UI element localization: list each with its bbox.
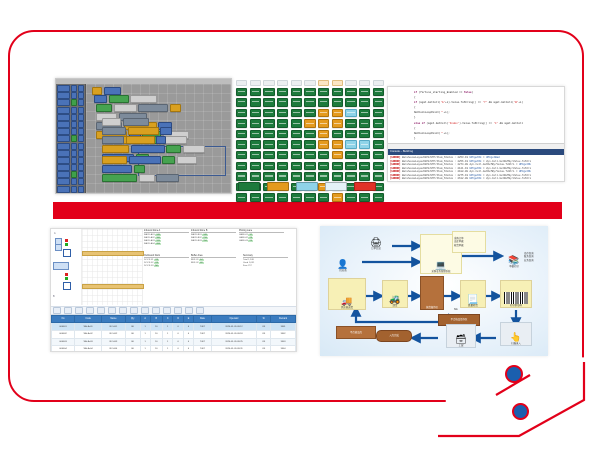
sheet-side-rail: A B xyxy=(51,229,82,305)
table-cell[interactable]: 000001 xyxy=(52,323,75,331)
rail-node-bottom[interactable] xyxy=(63,282,71,290)
matrix-cell[interactable] xyxy=(332,109,343,117)
matrix-cell[interactable] xyxy=(318,193,329,201)
matrix-cell[interactable] xyxy=(373,88,384,96)
matrix-cell[interactable] xyxy=(304,151,315,159)
table-cell[interactable]: 2024-01-05 09:12 xyxy=(211,323,257,331)
matrix-cell[interactable] xyxy=(263,193,274,201)
matrix-cell[interactable] xyxy=(345,151,356,159)
matrix-cell[interactable] xyxy=(277,193,288,201)
flow-node-transport-label: 供应商送货 xyxy=(341,306,353,310)
matrix-cell[interactable] xyxy=(236,98,247,106)
matrix-cell[interactable] xyxy=(277,140,288,148)
palette-item-math[interactable] xyxy=(57,100,84,105)
flow-node-scan: 👆 扫描录入 xyxy=(500,322,532,346)
block-row[interactable] xyxy=(102,136,205,144)
table-cell[interactable]: 000004 xyxy=(52,346,75,352)
matrix-cell[interactable] xyxy=(263,119,274,127)
block[interactable] xyxy=(126,136,155,144)
matrix-cell[interactable] xyxy=(332,88,343,96)
matrix-cell[interactable] xyxy=(263,98,274,106)
palette-chip xyxy=(78,121,84,128)
matrix-cell[interactable] xyxy=(277,162,288,170)
block[interactable] xyxy=(123,118,149,126)
table-cell[interactable]: 000003 xyxy=(52,338,75,346)
table-row[interactable]: 000003WH-A-03RC-0038011010074072024-01-0… xyxy=(52,338,296,346)
table-column-header[interactable]: Remark xyxy=(271,316,296,323)
matrix-cell[interactable] xyxy=(291,130,302,138)
block[interactable] xyxy=(129,156,161,164)
table-row[interactable]: 000002WH-A-02RC-0028011010074072024-01-0… xyxy=(52,330,296,338)
matrix-cell[interactable] xyxy=(332,193,343,201)
matrix-cell[interactable] xyxy=(304,162,315,170)
table-tool-button[interactable] xyxy=(97,307,105,314)
palette-item-screen1[interactable] xyxy=(57,144,84,149)
block[interactable] xyxy=(166,145,181,153)
block[interactable] xyxy=(177,156,197,164)
aisle-bar-bottom xyxy=(82,284,144,289)
block-row[interactable] xyxy=(102,118,187,126)
matrix-cell[interactable] xyxy=(359,172,370,180)
table-cell[interactable]: 3504 xyxy=(271,346,296,352)
matrix-cell[interactable] xyxy=(373,193,384,201)
matrix-cell[interactable] xyxy=(345,88,356,96)
matrix-cell[interactable] xyxy=(277,98,288,106)
table-cell[interactable]: 1 xyxy=(162,323,172,331)
palette-chip xyxy=(57,99,70,106)
table-cell[interactable]: 1 xyxy=(140,338,150,346)
table-tool-button[interactable] xyxy=(130,307,138,314)
matrix-cell[interactable] xyxy=(250,109,261,117)
matrix-cell[interactable] xyxy=(318,119,329,127)
table-tool-button[interactable] xyxy=(64,307,72,314)
table-column-header[interactable]: Name xyxy=(102,316,126,323)
blocks-editor-screenshot xyxy=(55,78,232,194)
table-column-header[interactable]: No xyxy=(52,316,75,323)
matrix-cell[interactable] xyxy=(263,172,274,180)
block[interactable] xyxy=(94,95,107,103)
matrix-cell[interactable] xyxy=(373,119,384,127)
table-column-header[interactable]: C xyxy=(162,316,172,323)
matrix-cell[interactable] xyxy=(373,98,384,106)
table-cell[interactable]: 1 xyxy=(140,323,150,331)
block[interactable] xyxy=(170,104,181,112)
table-cell[interactable]: 0 xyxy=(173,330,183,338)
matrix-cell[interactable] xyxy=(291,140,302,148)
matrix-cell[interactable] xyxy=(359,151,370,159)
table-cell[interactable]: 0 xyxy=(183,330,193,338)
table-row[interactable]: 000001WH-A-01RC-0018011010074072024-01-0… xyxy=(52,323,296,331)
sheet-group-header: Picking Lane xyxy=(239,230,284,233)
sheet-text-group: Buffer AreaBUF-01 64BUF-02 48 xyxy=(191,255,236,265)
table-cell[interactable]: WH-A-04 xyxy=(75,346,102,352)
matrix-cell[interactable] xyxy=(373,172,384,180)
table-column-header[interactable]: St xyxy=(257,316,271,323)
table-cell[interactable]: WH-A-02 xyxy=(75,330,102,338)
matrix-cell[interactable] xyxy=(263,109,274,117)
block-row[interactable] xyxy=(102,145,205,153)
palette-chip xyxy=(57,186,70,193)
matrix-cell[interactable] xyxy=(359,130,370,138)
palette-chip xyxy=(78,164,84,171)
matrix-cell[interactable] xyxy=(345,140,356,148)
matrix-cell[interactable] xyxy=(304,119,315,127)
palette-item-variables[interactable] xyxy=(57,129,84,134)
block[interactable] xyxy=(156,136,166,144)
matrix-cell[interactable] xyxy=(277,172,288,180)
matrix-cell[interactable] xyxy=(318,151,329,159)
matrix-cell[interactable] xyxy=(359,193,370,201)
matrix-cell[interactable] xyxy=(236,151,247,159)
block[interactable] xyxy=(114,104,137,112)
palette-item-tinydb1[interactable] xyxy=(57,179,84,184)
table-cell[interactable]: WH-A-01 xyxy=(75,323,102,331)
matrix-cell[interactable] xyxy=(277,109,288,117)
table-cell[interactable]: 3501 xyxy=(271,323,296,331)
matrix-cell[interactable] xyxy=(373,162,384,170)
matrix-cell[interactable] xyxy=(373,130,384,138)
flow-node-system-label: 采购业务管理系统 xyxy=(431,270,450,274)
block[interactable] xyxy=(96,104,112,112)
table-cell[interactable]: RC-004 xyxy=(102,346,126,352)
matrix-cell[interactable] xyxy=(263,130,274,138)
palette-item-web1[interactable] xyxy=(57,187,84,192)
table-column-header[interactable]: B xyxy=(150,316,162,323)
block-row[interactable] xyxy=(102,174,197,182)
table-cell[interactable]: RC-002 xyxy=(102,330,126,338)
matrix-cell[interactable] xyxy=(318,172,329,180)
matrix-cell[interactable] xyxy=(359,98,370,106)
matrix-cell[interactable] xyxy=(332,119,343,127)
table-cell[interactable]: 7407 xyxy=(194,338,212,346)
matrix-cell[interactable] xyxy=(250,162,261,170)
table-cell[interactable]: 80 xyxy=(125,346,140,352)
rail-node-top[interactable] xyxy=(63,249,71,257)
matrix-cell[interactable] xyxy=(359,88,370,96)
matrix-legend xyxy=(238,182,384,191)
table-cell[interactable]: 0 xyxy=(173,346,183,352)
matrix-cell[interactable] xyxy=(250,193,261,201)
table-cell[interactable]: 2024-01-05 09:31 xyxy=(211,346,257,352)
table-cell[interactable]: 7407 xyxy=(194,330,212,338)
block[interactable] xyxy=(131,145,165,153)
matrix-cell[interactable] xyxy=(291,172,302,180)
block[interactable] xyxy=(160,127,172,135)
matrix-cell[interactable] xyxy=(236,172,247,180)
block[interactable] xyxy=(102,127,126,135)
table-cell[interactable]: 10 xyxy=(150,330,162,338)
matrix-cell[interactable] xyxy=(304,130,315,138)
sheet-screenshot: A B Inbound Zone ARACK-A01 240RACK-A02 1… xyxy=(50,228,297,352)
block[interactable] xyxy=(102,174,137,182)
matrix-cell[interactable] xyxy=(236,119,247,127)
matrix-cell[interactable] xyxy=(250,140,261,148)
matrix-cell[interactable] xyxy=(359,119,370,127)
table-toolbar[interactable] xyxy=(51,306,296,315)
block[interactable] xyxy=(102,145,129,153)
table-cell[interactable]: 0 xyxy=(183,346,193,352)
matrix-cell[interactable] xyxy=(318,109,329,117)
blocks-palette[interactable] xyxy=(56,84,86,193)
matrix-cell[interactable] xyxy=(359,109,370,117)
table-cell[interactable]: 0 xyxy=(183,323,193,331)
table-column-header[interactable]: D xyxy=(173,316,183,323)
palette-item-colors[interactable] xyxy=(57,122,84,127)
matrix-cell[interactable] xyxy=(345,109,356,117)
palette-chip xyxy=(71,128,78,135)
table-cell[interactable]: 1 xyxy=(162,338,172,346)
matrix-cell[interactable] xyxy=(359,162,370,170)
matrix-cell[interactable] xyxy=(291,88,302,96)
palette-chip xyxy=(57,128,70,135)
matrix-cell[interactable] xyxy=(277,130,288,138)
matrix-column-headers xyxy=(236,80,384,86)
matrix-cell[interactable] xyxy=(250,151,261,159)
matrix-cell[interactable] xyxy=(250,172,261,180)
matrix-cell[interactable] xyxy=(318,98,329,106)
table-cell[interactable]: 10 xyxy=(150,323,162,331)
matrix-cell[interactable] xyxy=(304,98,315,106)
block-row[interactable] xyxy=(94,95,157,103)
matrix-col-header xyxy=(277,80,288,86)
matrix-cell[interactable] xyxy=(277,88,288,96)
table-cell[interactable]: 0 xyxy=(183,338,193,346)
table-cell[interactable]: 2024-01-05 09:18 xyxy=(211,330,257,338)
table-cell[interactable]: 2024-01-05 09:25 xyxy=(211,338,257,346)
matrix-cell[interactable] xyxy=(345,193,356,201)
palette-chip xyxy=(71,135,78,142)
table-cell[interactable]: 80 xyxy=(125,338,140,346)
table-column-header[interactable]: Date xyxy=(194,316,212,323)
matrix-cell[interactable] xyxy=(291,119,302,127)
block[interactable] xyxy=(139,174,155,182)
matrix-cell[interactable] xyxy=(318,140,329,148)
table-cell[interactable]: 0 xyxy=(173,338,183,346)
matrix-col-header xyxy=(373,80,384,86)
table-cell[interactable]: RC-001 xyxy=(102,323,126,331)
table-cell[interactable]: 7407 xyxy=(194,323,212,331)
books-icon: 📚 xyxy=(508,255,519,265)
matrix-cell[interactable] xyxy=(236,140,247,148)
table-cell[interactable]: OK xyxy=(257,346,271,352)
matrix-cell[interactable] xyxy=(236,109,247,117)
console-output[interactable]: [ERROR] WarehouseLayoutWCS/UTP/Item_Stat… xyxy=(388,155,564,181)
matrix-cell[interactable] xyxy=(291,162,302,170)
block-row[interactable] xyxy=(96,104,189,112)
palette-item-label1[interactable] xyxy=(57,158,84,163)
palette-item-button1[interactable] xyxy=(57,151,84,156)
sheet-text-group: Inbound Zone ARACK-A01 240RACK-A02 180RA… xyxy=(144,230,189,246)
palette-item-lists[interactable] xyxy=(57,115,84,120)
table-column-header[interactable]: Qty xyxy=(125,316,140,323)
table-cell[interactable]: 1 xyxy=(162,346,172,352)
table-tool-button[interactable] xyxy=(141,307,149,314)
block[interactable] xyxy=(128,127,159,135)
palette-chip xyxy=(78,92,84,99)
blocks-canvas[interactable] xyxy=(86,84,231,193)
table-cell[interactable]: 3502 xyxy=(271,330,296,338)
matrix-cell[interactable] xyxy=(332,172,343,180)
matrix-cell[interactable] xyxy=(250,88,261,96)
status-matrix-screenshot xyxy=(236,80,384,173)
table-column-header[interactable]: Operator xyxy=(211,316,257,323)
table-column-header[interactable]: Code xyxy=(75,316,102,323)
block[interactable] xyxy=(102,136,124,144)
block[interactable] xyxy=(104,87,121,95)
matrix-col-header xyxy=(291,80,302,86)
matrix-cell[interactable] xyxy=(373,140,384,148)
legend-item-inspect xyxy=(296,182,318,191)
rail-status-green-2 xyxy=(65,277,68,280)
block[interactable] xyxy=(109,95,129,103)
matrix-cell[interactable] xyxy=(345,98,356,106)
block[interactable] xyxy=(102,156,127,164)
table-tool-button[interactable] xyxy=(108,307,116,314)
table-cell[interactable]: 80 xyxy=(125,323,140,331)
matrix-cell[interactable] xyxy=(250,130,261,138)
table-row[interactable]: 000004WH-A-04RC-0048011010074072024-01-0… xyxy=(52,346,296,352)
matrix-cell[interactable] xyxy=(304,193,315,201)
red-divider-bar xyxy=(53,202,562,219)
block[interactable] xyxy=(130,95,157,103)
matrix-cell[interactable] xyxy=(277,119,288,127)
sheet-group-line: Free 217 xyxy=(243,265,288,268)
block[interactable] xyxy=(102,118,121,126)
table-cell[interactable]: 3503 xyxy=(271,338,296,346)
palette-chip xyxy=(57,114,70,121)
table-column-header[interactable]: E xyxy=(183,316,193,323)
matrix-cell[interactable] xyxy=(304,140,315,148)
table-cell[interactable]: 0 xyxy=(173,323,183,331)
matrix-cell[interactable] xyxy=(373,109,384,117)
matrix-cell[interactable] xyxy=(332,151,343,159)
computer-icon: 💻 xyxy=(435,260,446,270)
table-cell[interactable]: OK xyxy=(257,338,271,346)
matrix-cell[interactable] xyxy=(236,193,247,201)
block-row[interactable] xyxy=(102,156,197,164)
block-stack[interactable] xyxy=(102,156,197,183)
matrix-cell[interactable] xyxy=(263,151,274,159)
block[interactable] xyxy=(162,156,175,164)
slide-canvas: if (fortune_starting_Enabled == false){ … xyxy=(0,0,600,450)
table-tool-button[interactable] xyxy=(185,307,193,314)
flow-node-shelf-label: 上架 xyxy=(459,344,464,348)
matrix-cell[interactable] xyxy=(291,193,302,201)
matrix-cell[interactable] xyxy=(250,119,261,127)
matrix-cell[interactable] xyxy=(373,151,384,159)
sheet-group-line: BUF-02 48 xyxy=(191,262,236,265)
block[interactable] xyxy=(134,165,145,173)
matrix-cell[interactable] xyxy=(304,88,315,96)
block[interactable] xyxy=(156,174,179,182)
table-cell[interactable]: 1 xyxy=(140,330,150,338)
code-area[interactable]: if (fortune_starting_Enabled == false){ … xyxy=(388,87,564,142)
table-column-header[interactable]: A xyxy=(140,316,150,323)
table-tool-button[interactable] xyxy=(86,307,94,314)
matrix-cell[interactable] xyxy=(318,130,329,138)
matrix-cell[interactable] xyxy=(291,98,302,106)
block-row[interactable] xyxy=(92,87,121,95)
matrix-cell[interactable] xyxy=(263,162,274,170)
table-cell[interactable]: 10 xyxy=(150,338,162,346)
data-table[interactable]: NoCodeNameQtyABCDEDateOperatorStRemark 0… xyxy=(51,315,296,352)
matrix-cell[interactable] xyxy=(332,130,343,138)
matrix-cell[interactable] xyxy=(332,98,343,106)
matrix-cell[interactable] xyxy=(236,88,247,96)
block-row[interactable] xyxy=(102,165,197,173)
matrix-cell[interactable] xyxy=(318,88,329,96)
table-cell[interactable]: 10 xyxy=(150,346,162,352)
block[interactable] xyxy=(92,87,102,95)
matrix-cell[interactable] xyxy=(250,98,261,106)
table-cell[interactable]: RC-003 xyxy=(102,338,126,346)
matrix-cell[interactable] xyxy=(359,140,370,148)
matrix-cell[interactable] xyxy=(304,109,315,117)
sheet-group-header: Summary xyxy=(243,255,288,258)
matrix-cell[interactable] xyxy=(345,162,356,170)
table-tool-button[interactable] xyxy=(163,307,171,314)
table-cell[interactable]: 80 xyxy=(125,330,140,338)
sheet-grid-zone[interactable] xyxy=(82,229,143,305)
flow-node-reject-store-label: 不合格品库 xyxy=(350,331,362,335)
table-tool-button[interactable] xyxy=(75,307,83,314)
matrix-cell[interactable] xyxy=(291,109,302,117)
matrix-cell[interactable] xyxy=(236,130,247,138)
block[interactable] xyxy=(138,104,168,112)
table-cell[interactable]: OK xyxy=(257,323,271,331)
matrix-cell[interactable] xyxy=(263,140,274,148)
matrix-cell[interactable] xyxy=(263,88,274,96)
block[interactable] xyxy=(183,145,205,153)
matrix-cell[interactable] xyxy=(345,172,356,180)
table-tool-button[interactable] xyxy=(196,307,204,314)
block-stack[interactable] xyxy=(94,95,157,104)
palette-item-canvas1[interactable] xyxy=(57,172,84,177)
table-tool-button[interactable] xyxy=(53,307,61,314)
block[interactable] xyxy=(102,165,132,173)
matrix-cell[interactable] xyxy=(332,140,343,148)
table-tool-button[interactable] xyxy=(174,307,182,314)
table-tool-button[interactable] xyxy=(152,307,160,314)
matrix-cell[interactable] xyxy=(332,162,343,170)
flow-node-qc: 📃 数量检货 xyxy=(460,280,486,308)
table-tool-button[interactable] xyxy=(119,307,127,314)
legend-item-normal xyxy=(238,182,260,191)
palette-item-control[interactable] xyxy=(57,86,84,91)
table-cell[interactable]: WH-A-03 xyxy=(75,338,102,346)
table-cell[interactable]: 1 xyxy=(140,346,150,352)
matrix-cell[interactable] xyxy=(277,151,288,159)
block-row[interactable] xyxy=(102,127,187,135)
table-cell[interactable]: OK xyxy=(257,330,271,338)
matrix-cell[interactable] xyxy=(345,130,356,138)
table-cell[interactable]: 000002 xyxy=(52,330,75,338)
table-cell[interactable]: 7407 xyxy=(194,346,212,352)
matrix-cell[interactable] xyxy=(291,151,302,159)
palette-item-clock1[interactable] xyxy=(57,165,84,170)
matrix-cell[interactable] xyxy=(304,172,315,180)
flow-node-scan-label: 扫描录入 xyxy=(511,342,521,346)
palette-item-logic[interactable] xyxy=(57,93,84,98)
matrix-cell[interactable] xyxy=(345,119,356,127)
palette-chip xyxy=(71,99,78,106)
palette-item-text[interactable] xyxy=(57,108,84,113)
palette-item-procedures[interactable] xyxy=(57,136,84,141)
table-cell[interactable]: 1 xyxy=(162,330,172,338)
matrix-cell[interactable] xyxy=(318,162,329,170)
shelf-icon: 🗃 xyxy=(455,334,466,344)
matrix-cell[interactable] xyxy=(236,162,247,170)
